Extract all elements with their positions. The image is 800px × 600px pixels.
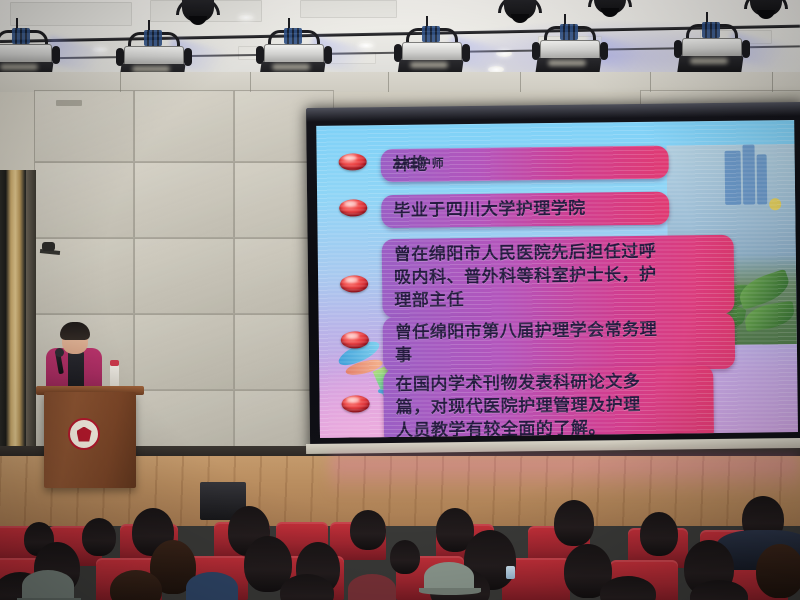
wall-panel	[134, 90, 234, 162]
ceiling	[0, 0, 800, 80]
led-presentation-screen: 林艳 主任护师 毕业于四川大学护理学院 曾在绵阳市人民医院先后担任过呼 吸内科、…	[306, 102, 800, 456]
audience-cap	[22, 570, 74, 600]
wall-panel	[134, 238, 234, 314]
slide-bullet-row: 毕业于四川大学护理学院	[339, 192, 669, 229]
ceiling-tile	[300, 0, 397, 18]
slide-bullet-row: 林艳 主任护师	[339, 146, 669, 183]
slide-text-line: 事	[395, 340, 723, 367]
wall-camera-icon	[40, 242, 60, 256]
slide-text-line: 理部主任	[394, 285, 722, 312]
slide-text-suffix: 主任护师	[393, 152, 445, 176]
audience-head	[640, 512, 678, 556]
water-bottle	[110, 364, 119, 388]
bullet-marker-icon	[339, 153, 367, 170]
slide-bullet-row: 曾在绵阳市人民医院先后担任过呼 吸内科、普外科等科室护士长，护 理部主任	[340, 235, 735, 319]
wall-vent	[56, 100, 82, 106]
moving-head-fixture	[588, 0, 632, 24]
stage-floor-screen-glow	[330, 456, 800, 496]
moving-head-fixture	[176, 0, 220, 32]
water-bottle-cap	[110, 360, 119, 366]
slide-pill: 曾任绵阳市第八届护理学会常务理 事	[383, 313, 736, 373]
audience-head	[554, 500, 594, 546]
audience-cap	[348, 574, 396, 600]
slide-pill: 在国内学术刊物发表科研论文多 篇，对现代医院护理管理及护理 人员教学有较全面的了…	[383, 365, 714, 438]
downlight	[238, 14, 254, 21]
institution-seal-emblem	[68, 418, 100, 450]
slide-pill: 曾在绵阳市人民医院先后担任过呼 吸内科、普外科等科室护士长，护 理部主任	[382, 235, 735, 318]
audience-phone	[506, 566, 515, 579]
slide-text-line: 毕业于四川大学护理学院	[393, 196, 657, 222]
bullet-marker-icon	[340, 275, 368, 292]
slide-bullet-row: 曾任绵阳市第八届护理学会常务理 事	[341, 313, 736, 374]
slide-pill: 林艳 主任护师	[381, 146, 669, 183]
audience-head	[756, 544, 800, 598]
bullet-marker-icon	[339, 199, 367, 216]
slide-bullet-list: 林艳 主任护师 毕业于四川大学护理学院 曾在绵阳市人民医院先后担任过呼 吸内科、…	[316, 120, 798, 438]
slide-bullet-row: 在国内学术刊物发表科研论文多 篇，对现代医院护理管理及护理 人员教学有较全面的了…	[341, 365, 714, 438]
podium	[44, 392, 136, 488]
lecture-hall-scene: 林艳 主任护师 毕业于四川大学护理学院 曾在绵阳市人民医院先后担任过呼 吸内科、…	[0, 0, 800, 600]
audience-head	[390, 540, 420, 574]
downlight	[92, 46, 108, 53]
slide-pill: 毕业于四川大学护理学院	[381, 192, 669, 229]
wall-panel	[34, 90, 134, 162]
presenter-hair	[60, 322, 90, 340]
audience-cap	[186, 572, 238, 600]
ceiling-tile	[10, 2, 132, 26]
audience-area	[0, 496, 800, 600]
audience-head	[82, 518, 116, 556]
moving-head-fixture	[744, 0, 788, 26]
wall-panel	[134, 162, 234, 238]
slide-canvas: 林艳 主任护师 毕业于四川大学护理学院 曾在绵阳市人民医院先后担任过呼 吸内科、…	[316, 120, 798, 438]
bullet-marker-icon	[341, 331, 369, 348]
bullet-marker-icon	[342, 395, 370, 412]
wall-panel	[134, 314, 234, 390]
wall-panel	[34, 162, 134, 238]
microphone-capsule-icon	[55, 348, 64, 357]
audience-cap	[424, 562, 474, 592]
downlight	[358, 42, 374, 49]
audience-head	[350, 510, 386, 550]
